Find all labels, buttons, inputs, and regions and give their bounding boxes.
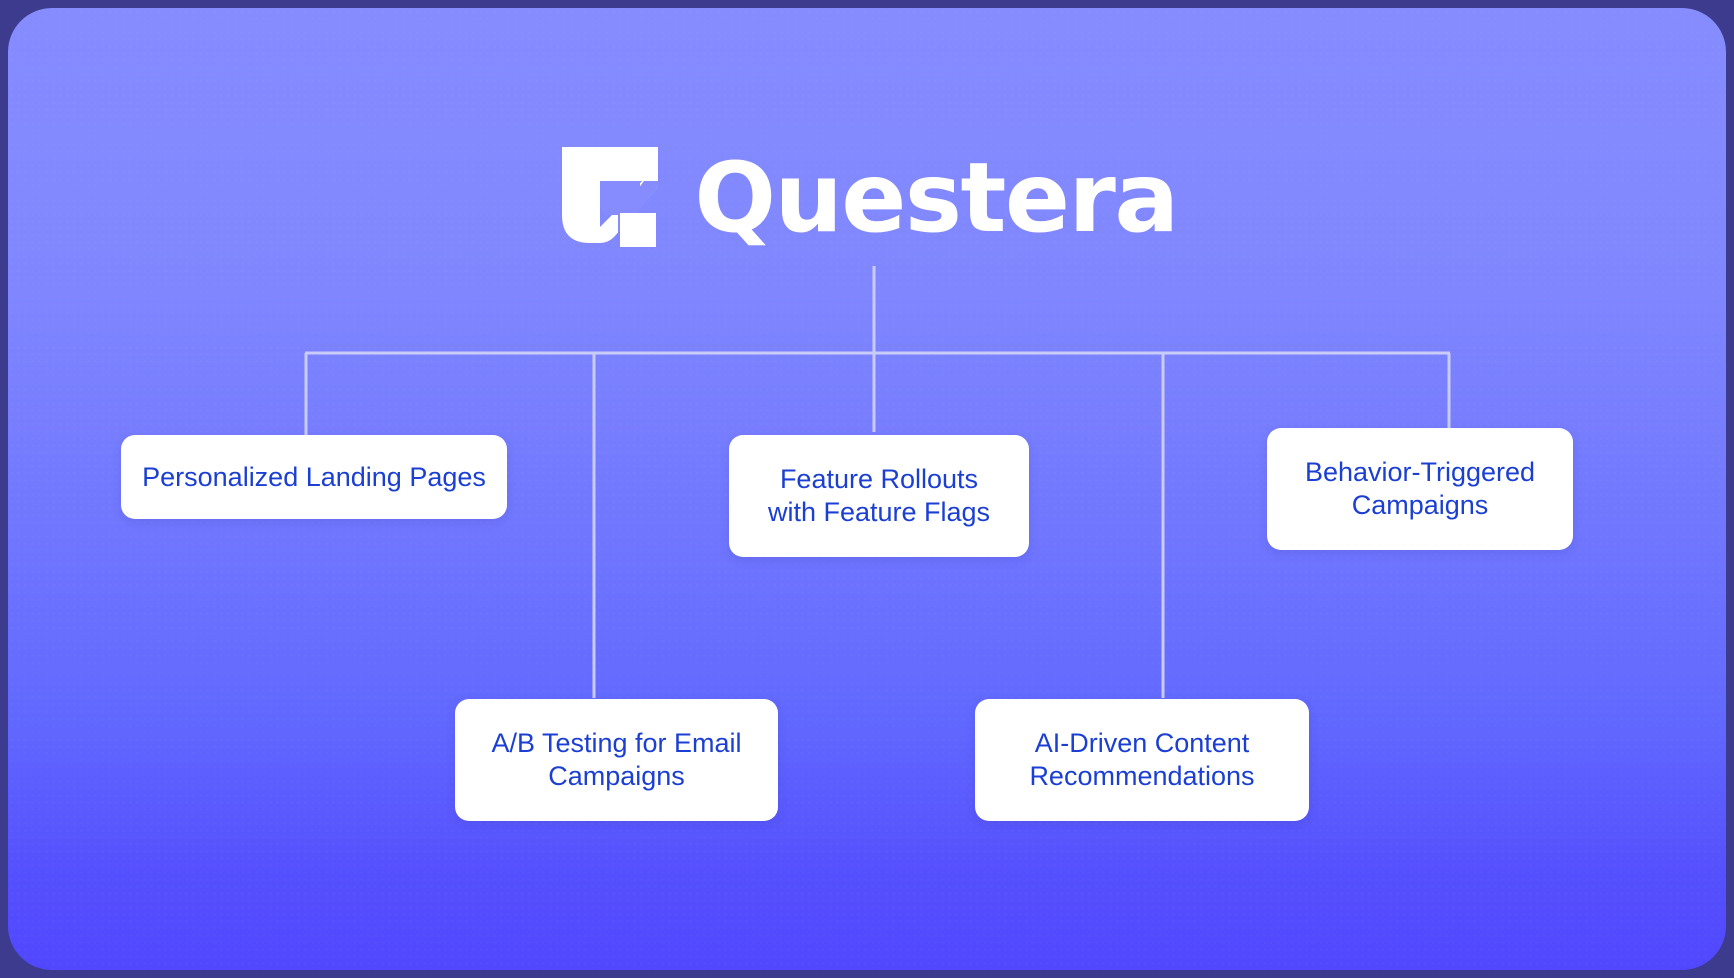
node-label: Feature Rollouts with Feature Flags bbox=[748, 463, 1010, 529]
node-ab-testing-email-campaigns[interactable]: A/B Testing for Email Campaigns bbox=[455, 699, 778, 821]
diagram-card: Questera Personalized Landing Pages Feat… bbox=[8, 8, 1726, 970]
node-label: A/B Testing for Email Campaigns bbox=[471, 727, 761, 793]
node-label: AI-Driven Content Recommendations bbox=[1009, 727, 1274, 793]
node-behavior-triggered-campaigns[interactable]: Behavior-Triggered Campaigns bbox=[1267, 428, 1573, 550]
node-label: Behavior-Triggered Campaigns bbox=[1285, 456, 1555, 522]
questera-shield-mark-icon bbox=[556, 141, 664, 254]
node-ai-driven-content-recommendations[interactable]: AI-Driven Content Recommendations bbox=[975, 699, 1309, 821]
node-label: Personalized Landing Pages bbox=[122, 461, 506, 494]
brand-name: Questera bbox=[694, 150, 1177, 246]
brand-lockup: Questera bbox=[8, 141, 1726, 254]
node-personalized-landing-pages[interactable]: Personalized Landing Pages bbox=[121, 435, 507, 519]
node-feature-rollouts[interactable]: Feature Rollouts with Feature Flags bbox=[729, 435, 1029, 557]
